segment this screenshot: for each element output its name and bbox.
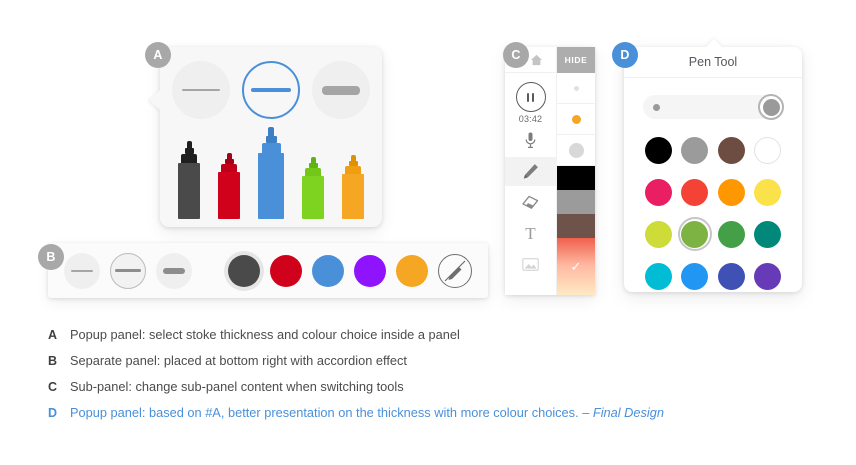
subpanel-dot-small[interactable]	[557, 73, 595, 104]
color-blue[interactable]	[678, 259, 712, 293]
panel-a-thickness-medium[interactable]	[242, 61, 300, 119]
color-white[interactable]	[751, 133, 785, 167]
badge-d: D	[612, 42, 638, 68]
tool-eraser[interactable]	[513, 188, 549, 217]
panel-b-color-purple[interactable]	[354, 255, 386, 287]
color-gray[interactable]	[678, 133, 712, 167]
caption-row-a: A Popup panel: select stoke thickness an…	[48, 327, 808, 353]
caption-key-c: C	[48, 380, 70, 394]
image-icon	[522, 258, 539, 271]
thickness-thick-selected[interactable]	[758, 94, 784, 120]
color-red[interactable]	[678, 175, 712, 209]
caption-text-a: Popup panel: select stoke thickness and …	[70, 327, 460, 342]
panel-b-color-orange[interactable]	[396, 255, 428, 287]
caption-list: A Popup panel: select stoke thickness an…	[48, 327, 808, 431]
panel-d-color-grid	[640, 133, 786, 293]
panel-a-thickness-thin[interactable]	[172, 61, 230, 119]
panel-b-items	[48, 253, 472, 289]
pencil-icon	[440, 256, 470, 286]
caption-key-a: A	[48, 328, 70, 342]
subpanel-band-black[interactable]	[557, 166, 595, 190]
panel-d-thickness-slider[interactable]	[643, 95, 783, 119]
color-green-selected[interactable]	[678, 217, 712, 251]
subpanel-dot-large[interactable]	[557, 135, 595, 166]
subpanel-confirm[interactable]: ✓	[557, 238, 595, 295]
marker-orange[interactable]	[342, 155, 364, 219]
caption-text-c: Sub-panel: change sub-panel content when…	[70, 379, 404, 394]
tool-text[interactable]: T	[513, 219, 549, 248]
color-violet[interactable]	[751, 259, 785, 293]
caption-text-d: Popup panel: based on #A, better present…	[70, 405, 664, 420]
panel-b-thickness-thick[interactable]	[156, 253, 192, 289]
badge-a: A	[145, 42, 171, 68]
panel-c-timer[interactable]: 03:42	[516, 82, 546, 124]
panel-b-color-dark[interactable]	[228, 255, 260, 287]
tool-pen[interactable]	[505, 157, 557, 186]
panel-a-marker-row	[160, 124, 382, 219]
panel-b-toolbar[interactable]	[48, 243, 488, 298]
eraser-icon	[521, 195, 540, 211]
panel-b-pencil-icon[interactable]	[438, 254, 472, 288]
color-cyan[interactable]	[641, 259, 675, 293]
color-orange[interactable]	[714, 175, 748, 209]
panel-c-subpanel-column: HIDE ✓	[557, 47, 595, 295]
marker-blue[interactable]	[258, 127, 284, 219]
caption-row-b: B Separate panel: placed at bottom right…	[48, 353, 808, 379]
thickness-thin[interactable]	[653, 104, 660, 111]
text-tool-glyph: T	[525, 224, 535, 244]
caption-row-d: D Popup panel: based on #A, better prese…	[48, 405, 808, 431]
panel-a-thickness-thick[interactable]	[312, 61, 370, 119]
design-comparison-board: A	[0, 0, 856, 465]
caption-text-d-main: Popup panel: based on #A, better present…	[70, 405, 593, 420]
home-icon[interactable]	[530, 54, 543, 66]
panel-d-title: Pen Tool	[624, 47, 802, 78]
color-lime[interactable]	[641, 217, 675, 251]
check-icon: ✓	[571, 259, 582, 275]
badge-c: C	[503, 42, 529, 68]
color-black[interactable]	[641, 133, 675, 167]
color-pink[interactable]	[641, 175, 675, 209]
color-brown[interactable]	[714, 133, 748, 167]
panel-b-color-red[interactable]	[270, 255, 302, 287]
caption-text-b: Separate panel: placed at bottom right w…	[70, 353, 407, 368]
pen-icon	[521, 162, 540, 181]
panel-a-thickness-row	[160, 61, 382, 119]
marker-green[interactable]	[302, 157, 324, 219]
panel-b-thickness-medium[interactable]	[110, 253, 146, 289]
panel-d-pen-tool[interactable]: Pen Tool	[624, 47, 802, 292]
marker-red[interactable]	[218, 153, 240, 219]
caption-text-d-emphasis: Final Design	[593, 405, 664, 420]
panel-b-color-blue[interactable]	[312, 255, 344, 287]
subpanel-band-brown[interactable]	[557, 214, 595, 238]
color-teal[interactable]	[751, 217, 785, 251]
panel-c-timer-text: 03:42	[519, 114, 543, 124]
panel-a-popup[interactable]	[160, 47, 382, 227]
caption-row-c: C Sub-panel: change sub-panel content wh…	[48, 379, 808, 405]
panel-c-tool-column: ‹ 03:42	[505, 47, 557, 295]
subpanel-band-gray[interactable]	[557, 190, 595, 214]
hide-button[interactable]: HIDE	[557, 47, 595, 73]
pause-icon[interactable]	[516, 82, 546, 112]
panel-d-tail-arrow	[705, 39, 723, 48]
marker-black[interactable]	[178, 141, 200, 219]
tool-image[interactable]	[513, 250, 549, 279]
tool-microphone[interactable]	[513, 126, 549, 155]
microphone-icon	[525, 132, 536, 149]
panel-b-thickness-thin[interactable]	[64, 253, 100, 289]
badge-b: B	[38, 244, 64, 270]
color-emerald[interactable]	[714, 217, 748, 251]
color-yellow[interactable]	[751, 175, 785, 209]
panel-c-subpanel[interactable]: ‹ 03:42	[505, 47, 595, 295]
caption-key-d: D	[48, 406, 70, 420]
subpanel-dot-medium[interactable]	[557, 104, 595, 135]
caption-key-b: B	[48, 354, 70, 368]
color-indigo[interactable]	[714, 259, 748, 293]
